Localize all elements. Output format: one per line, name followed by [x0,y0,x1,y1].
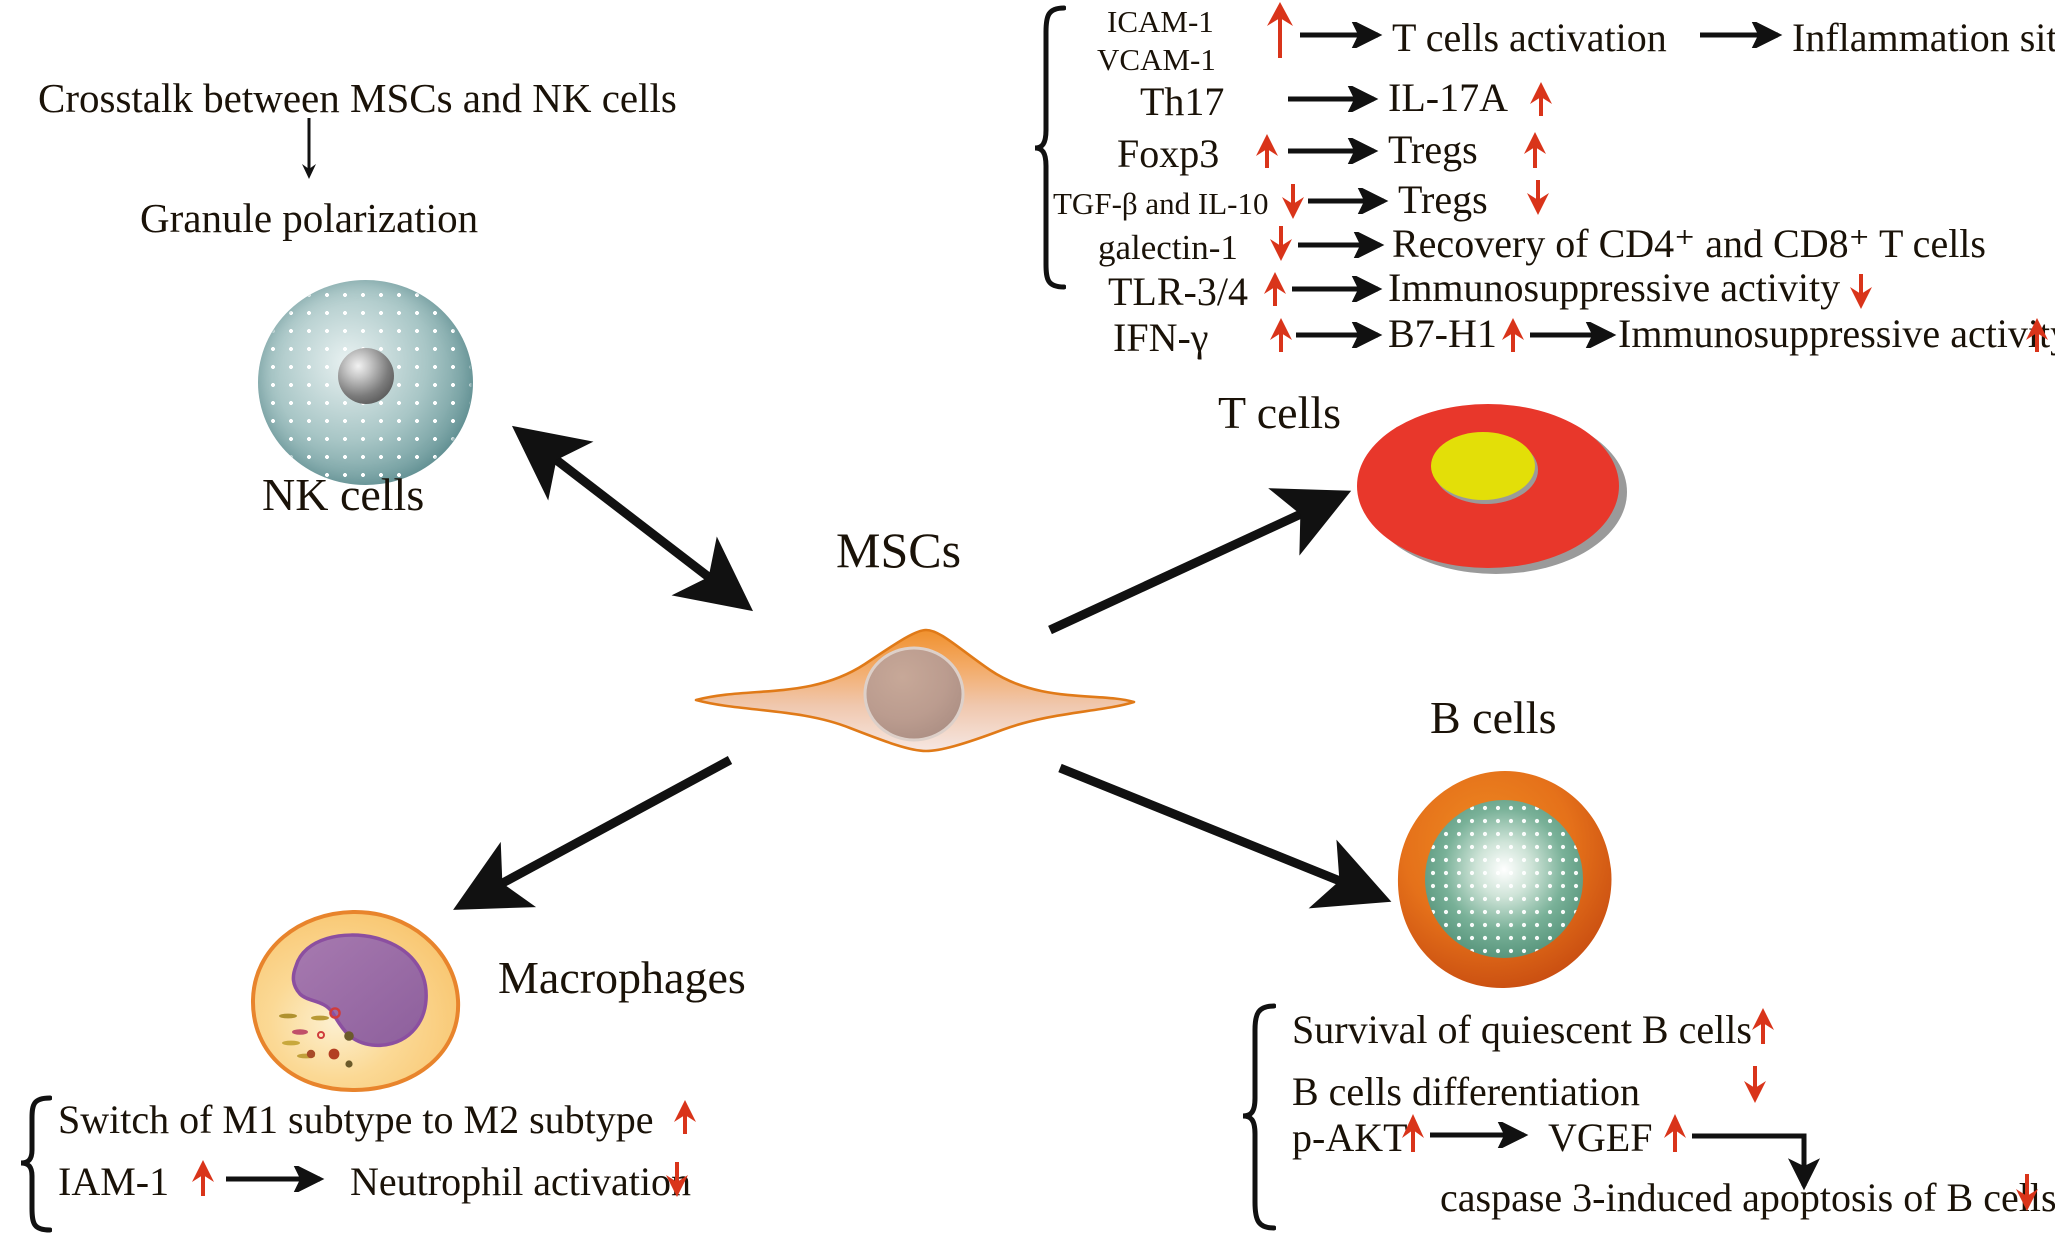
t-row-5-target-0: Immunosuppressive activity [1388,268,1840,308]
b-row-1-text: B cells differentiation [1292,1072,1640,1112]
up-arrow-icon [2024,318,2050,354]
down-arrow-icon [1525,178,1551,216]
t-row-1-connector [1288,86,1388,112]
b-panel-brace [1240,1002,1276,1232]
t-row-6-target-1: Immunosuppressive activity [1618,314,2055,354]
t-cells-label: T cells [1218,390,1341,436]
b-cell-illustration [1390,765,1620,995]
t-row-4-target-0: Recovery of CD4⁺ and CD8⁺ T cells [1392,224,1986,264]
nk-cell-illustration [258,280,473,485]
t-row-4-factor-0: galectin-1 [1098,230,1238,265]
nk-crosstalk-heading: Crosstalk between MSCs and NK cells [38,78,677,119]
down-arrow-icon [1280,182,1306,220]
t-row-3-target-0: Tregs [1398,180,1488,220]
up-arrow-icon [1500,318,1526,354]
t-panel-brace [1032,2,1066,292]
down-arrow-icon [1848,272,1874,310]
up-arrow-icon [1750,1008,1776,1046]
macrophage-row-0-text: Switch of M1 subtype to M2 subtype [58,1100,654,1140]
nk-cells-label: NK cells [262,472,424,518]
t-row-2-target-0: Tregs [1388,130,1478,170]
t-cell-illustration [1350,398,1630,578]
macrophage-row-1-target: Neutrophil activation [350,1162,691,1202]
t-row-6-connector-0 [1296,322,1392,348]
b-row-2-connector [1430,1122,1540,1148]
up-arrow-icon [1400,1114,1426,1154]
arrow-msc-bcells [1060,768,1382,898]
down-arrow-icon [1268,224,1294,262]
t-row-0-connector-1 [1700,22,1792,48]
up-arrow-icon [672,1100,698,1136]
nk-nucleus [338,348,394,404]
up-arrow-icon [1262,272,1288,308]
msc-cell-illustration [690,616,1140,756]
t-row-6-target-0: B7-H1 [1388,314,1497,354]
arrow-msc-tcells [1050,495,1342,630]
b-row-2-text: p-AKT [1292,1118,1408,1158]
b-row-3-text: caspase 3-induced apoptosis of B cells [1440,1178,2055,1218]
b-row-2-target: VGEF [1548,1118,1652,1158]
b-cells-label: B cells [1430,695,1556,741]
t-row-0-target-0: T cells activation [1392,18,1667,58]
down-arrow-icon [1742,1064,1768,1104]
macrophage-illustration [248,908,463,1093]
macrophage-row-1-text: IAM-1 [58,1162,169,1202]
t-row-2-connector [1288,138,1388,164]
down-arrow-icon [2014,1172,2040,1212]
up-arrow-icon [1254,134,1280,170]
t-row-0-factor-0: ICAM-1 [1107,6,1214,37]
t-row-1-target-0: IL-17A [1388,78,1508,118]
down-arrow-icon [664,1160,690,1198]
t-row-6-connector-1 [1530,322,1626,348]
macrophages-label: Macrophages [498,955,746,1001]
macrophage-row-1-connector [226,1166,336,1192]
up-arrow-icon [1268,318,1294,354]
macrophage-panel-brace [18,1094,52,1234]
t-row-2-factor-0: Foxp3 [1117,134,1219,174]
b-row-0-text: Survival of quiescent B cells [1292,1010,1752,1050]
up-arrow-icon [1528,82,1554,118]
t-row-3-connector [1308,188,1398,214]
t-row-1-factor-0: Th17 [1140,82,1224,122]
up-arrow-icon [190,1160,216,1198]
down-arrow-icon [300,118,318,185]
up-arrow-icon [1522,132,1548,170]
t-row-6-factor-0: IFN-γ [1113,318,1208,358]
t-row-0-target-1: Inflammation site [1792,18,2055,58]
arrow-msc-nk [520,432,745,605]
nk-granule-polarization-label: Granule polarization [140,198,478,239]
t-row-5-connector [1292,276,1392,302]
up-arrow-icon [1662,1114,1688,1154]
t-row-4-connector [1298,232,1394,258]
msc-label: MSCs [836,525,961,575]
t-row-3-factor-0: TGF-β and IL-10 [1053,188,1269,219]
t-row-5-factor-0: TLR-3/4 [1108,272,1248,312]
arrow-msc-macrophages [462,760,730,905]
up-arrow-long-icon [1254,2,1306,62]
t-row-0-factor-1: VCAM-1 [1097,44,1216,75]
t-row-0-connector-0 [1300,22,1392,48]
